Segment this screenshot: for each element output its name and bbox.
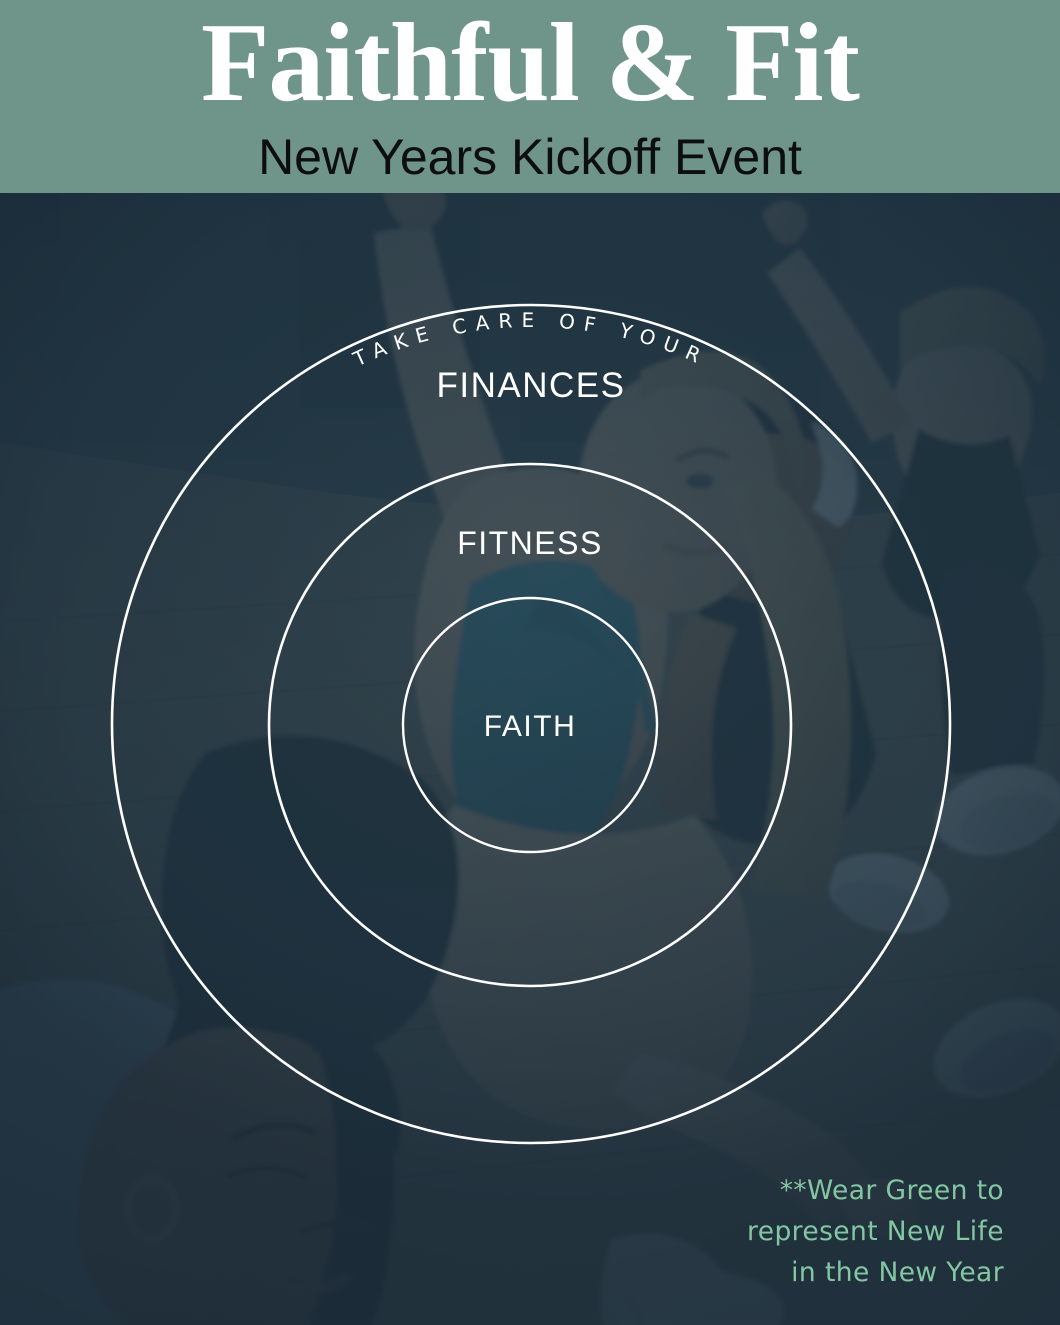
page-title: Faithful & Fit (0, 6, 1060, 120)
background-photo-art (0, 193, 1060, 1325)
poster: TAKE CARE OF YOUR FINANCES FITNESS FAITH… (0, 0, 1060, 1325)
header-band: Faithful & Fit New Years Kickoff Event (0, 0, 1060, 193)
background-photo (0, 193, 1060, 1325)
page-subtitle: New Years Kickoff Event (0, 132, 1060, 182)
